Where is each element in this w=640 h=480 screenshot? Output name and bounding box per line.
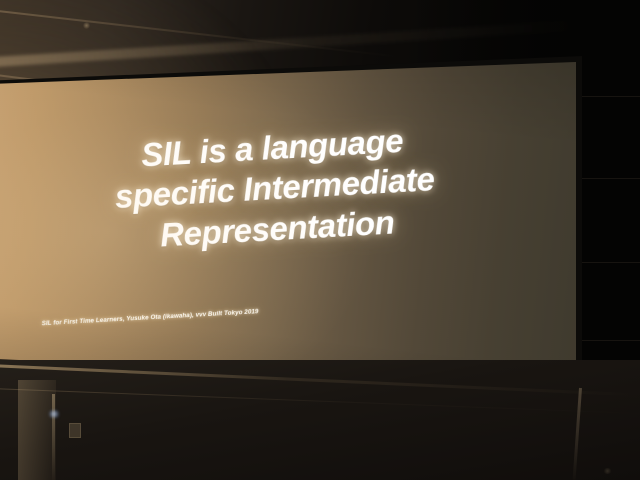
- slide-content: SIL is a language specific Intermediate …: [0, 44, 586, 407]
- indicator-light-icon: [48, 410, 60, 418]
- support-pole: [573, 388, 582, 480]
- door-jamb: [52, 394, 55, 480]
- slide-footer-credit: SIL for First Time Learners, Yusuke Ota …: [42, 308, 259, 327]
- photo-scene: SIL is a language specific Intermediate …: [0, 0, 640, 480]
- slide-title: SIL is a language specific Intermediate …: [0, 112, 577, 266]
- floor-marker: [603, 468, 612, 474]
- lower-wall: [0, 360, 640, 480]
- door-frame: [18, 380, 56, 480]
- wall-plate: [69, 423, 81, 438]
